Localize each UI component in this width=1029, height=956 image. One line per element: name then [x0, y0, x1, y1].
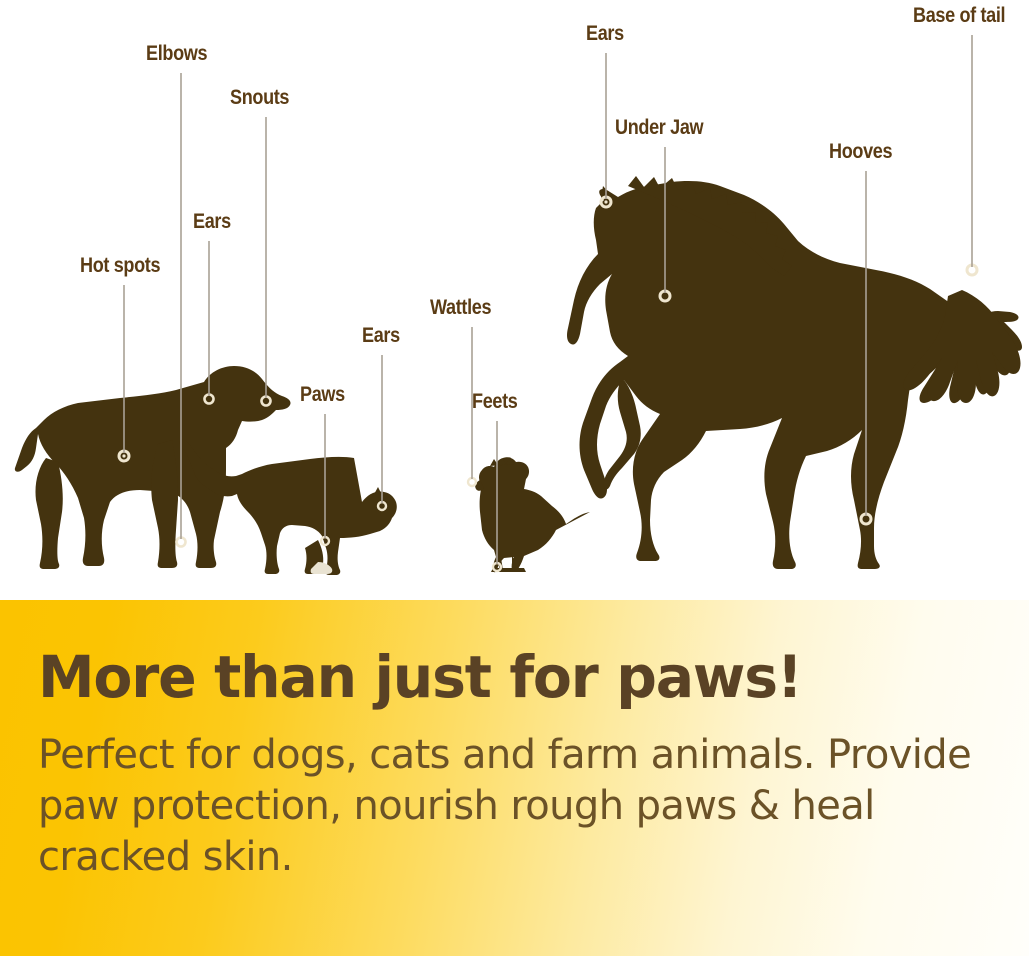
promo-panel: More than just for paws! Perfect for dog… — [0, 600, 1029, 956]
callout-label-base-of-tail: Base of tail — [913, 5, 1005, 26]
callout-label-wattles: Wattles — [430, 297, 491, 318]
promo-headline: More than just for paws! — [38, 648, 802, 706]
animal-silhouettes-group — [0, 0, 1029, 600]
callout-label-feets: Feets — [472, 391, 517, 412]
callout-label-under-jaw: Under Jaw — [615, 117, 703, 138]
callout-label-hot-spots: Hot spots — [80, 255, 160, 276]
promo-body-line-1: Perfect for dogs, cats and farm animals.… — [38, 730, 988, 781]
callout-label-snouts: Snouts — [230, 87, 289, 108]
callout-label-cat-ears: Ears — [362, 325, 400, 346]
callout-label-hooves: Hooves — [829, 141, 892, 162]
promo-body-line-3: cracked skin. — [38, 832, 988, 883]
animal-diagram: Hot spots Elbows Ears Snouts Paws Ears W… — [0, 0, 1029, 600]
callout-label-horse-ears: Ears — [586, 23, 624, 44]
horse-silhouette — [567, 181, 1022, 569]
callout-label-dog-ears: Ears — [193, 211, 231, 232]
dog-hind-leg — [35, 458, 62, 569]
callout-label-paws: Paws — [300, 384, 345, 405]
chicken-silhouette — [479, 457, 590, 572]
promo-body-line-2: paw protection, nourish rough paws & hea… — [38, 781, 988, 832]
dog-front-leg — [151, 440, 178, 568]
product-infographic: Hot spots Elbows Ears Snouts Paws Ears W… — [0, 0, 1029, 956]
promo-body: Perfect for dogs, cats and farm animals.… — [38, 730, 988, 884]
callout-label-elbows: Elbows — [146, 43, 207, 64]
